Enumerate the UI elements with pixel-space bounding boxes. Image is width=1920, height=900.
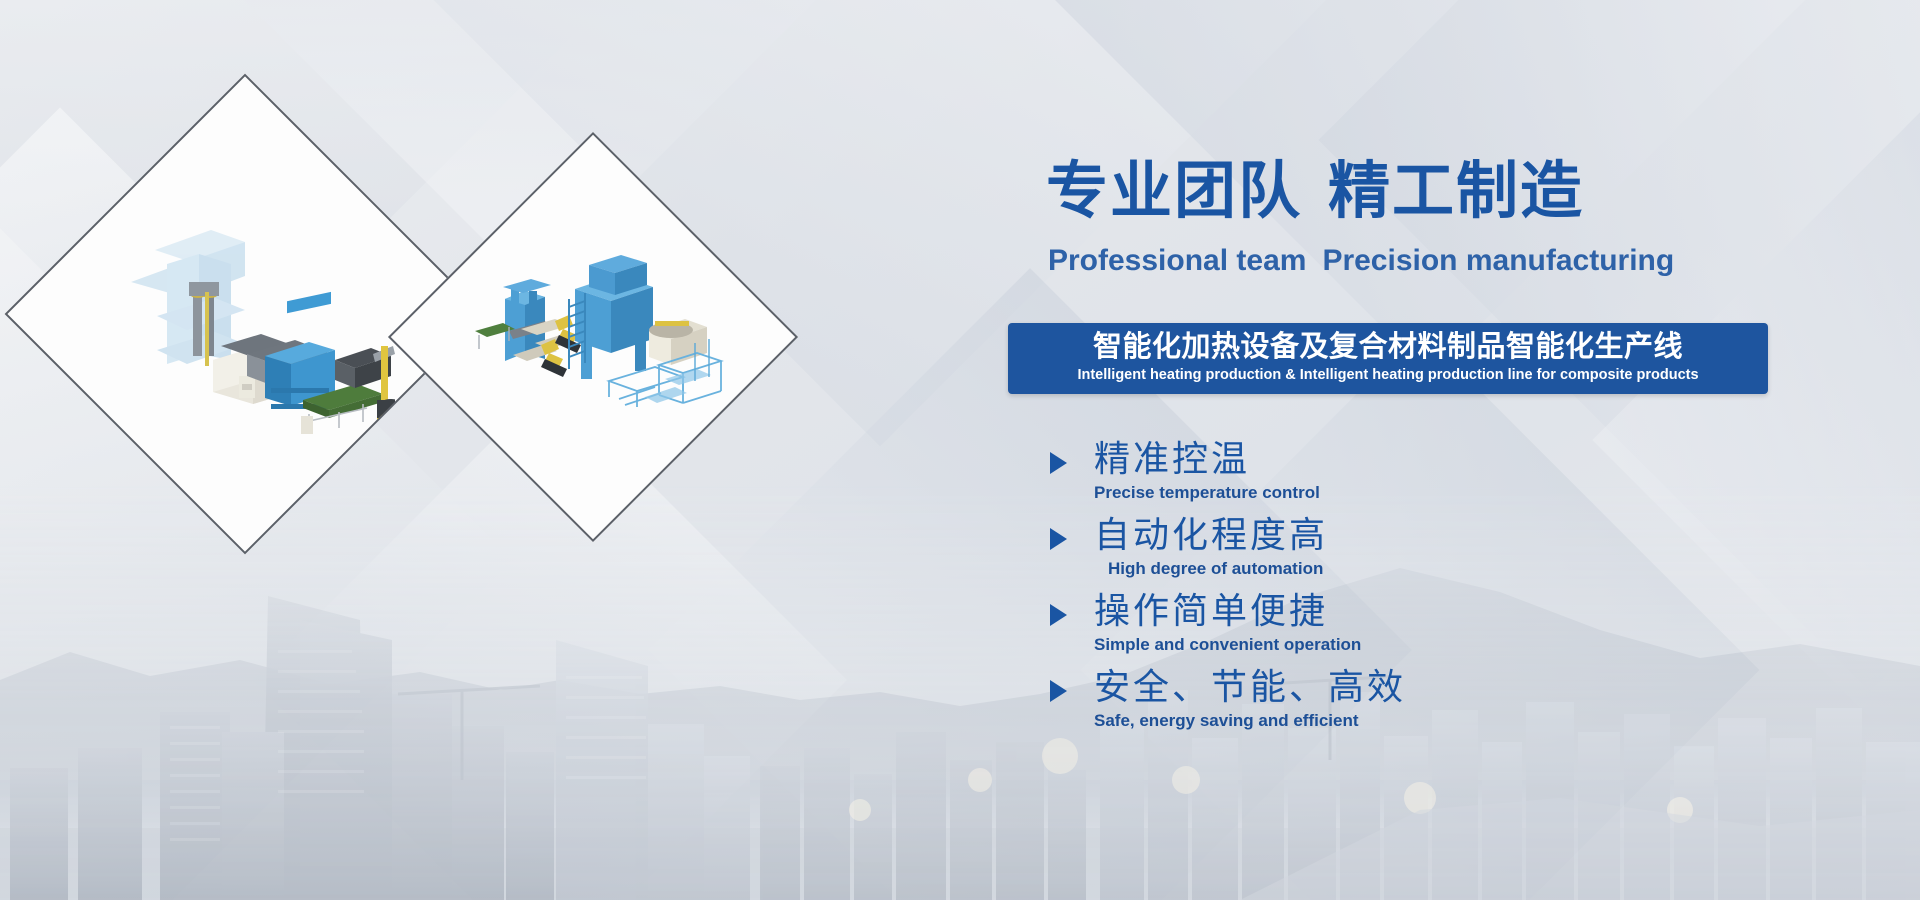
feature-label-cn: 自动化程度高 [1094, 514, 1328, 558]
feature-label-cn: 操作简单便捷 [1094, 590, 1328, 634]
feature-label-en: High degree of automation [1108, 558, 1323, 580]
heating-equipment-render [95, 164, 395, 464]
product-banner: 智能化加热设备及复合材料制品智能化生产线 Intelligent heating… [1008, 323, 1768, 394]
feature-item: 精准控温 Precise temperature control [1036, 438, 1676, 514]
headline-en-part1: Professional team [1048, 244, 1306, 277]
feature-label-en: Safe, energy saving and efficient [1094, 710, 1359, 732]
feature-list: 精准控温 Precise temperature control 自动化程度高 … [1036, 438, 1676, 742]
triangle-bullet-icon [1050, 680, 1067, 702]
headline-en-part2: Precision manufacturing [1322, 244, 1674, 277]
feature-label-en: Simple and convenient operation [1094, 634, 1361, 656]
headline-cn-part2: 精工制造 [1328, 154, 1584, 227]
feature-item: 操作简单便捷 Simple and convenient operation [1036, 590, 1676, 666]
headline-chinese: 专业团队精工制造 [1046, 160, 1584, 222]
triangle-bullet-icon [1050, 604, 1067, 626]
feature-label-cn: 精准控温 [1094, 438, 1250, 482]
composite-production-line-render [459, 203, 727, 471]
promotional-banner: 专业团队精工制造 Professional teamPrecision manu… [0, 0, 1920, 900]
product-banner-title-en: Intelligent heating production & Intelli… [1022, 364, 1754, 386]
product-banner-title-cn: 智能化加热设备及复合材料制品智能化生产线 [1022, 328, 1754, 364]
feature-label-en: Precise temperature control [1094, 482, 1320, 504]
triangle-bullet-icon [1050, 452, 1067, 474]
headline-cn-part1: 专业团队 [1046, 154, 1302, 227]
feature-item: 安全、节能、高效 Safe, energy saving and efficie… [1036, 666, 1676, 742]
feature-item: 自动化程度高 High degree of automation [1036, 514, 1676, 590]
triangle-bullet-icon [1050, 528, 1067, 550]
content-column: 专业团队精工制造 Professional teamPrecision manu… [1008, 0, 1920, 900]
headline-english: Professional teamPrecision manufacturing [1048, 246, 1674, 276]
feature-label-cn: 安全、节能、高效 [1094, 666, 1406, 710]
